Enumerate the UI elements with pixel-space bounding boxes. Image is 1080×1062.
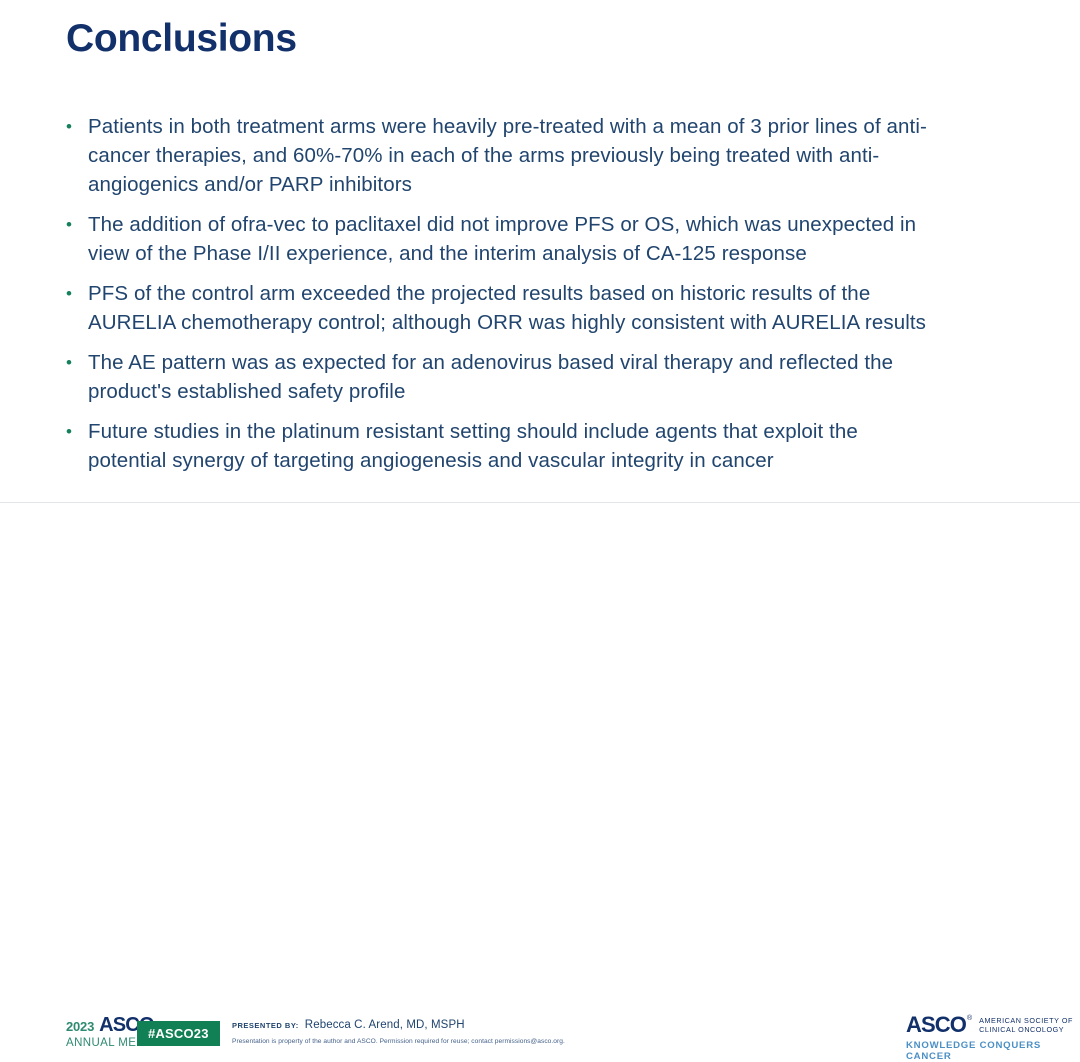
list-item-text: The addition of ofra-vec to paclitaxel d… bbox=[88, 210, 1020, 268]
bullet-line: Patients in both treatment arms were hea… bbox=[88, 112, 1020, 141]
asco-meeting-year: 2023 bbox=[66, 1020, 94, 1033]
asco-society-logo-top: ASCO ® AMERICAN SOCIETY OF CLINICAL ONCO… bbox=[906, 1014, 1080, 1036]
bullet-dot-icon: • bbox=[60, 417, 88, 446]
bullet-dot-icon: • bbox=[60, 112, 88, 141]
bullet-line: cancer therapies, and 60%-70% in each of… bbox=[88, 141, 1020, 170]
bullet-line: The addition of ofra-vec to paclitaxel d… bbox=[88, 210, 1020, 239]
slide-canvas: Conclusions • Patients in both treatment… bbox=[0, 0, 1080, 558]
list-item-text: Future studies in the platinum resistant… bbox=[88, 417, 1020, 475]
asco-society-name-line2: CLINICAL ONCOLOGY bbox=[979, 1025, 1073, 1034]
copyright-disclaimer: Presentation is property of the author a… bbox=[232, 1038, 565, 1046]
list-item: • Future studies in the platinum resista… bbox=[60, 417, 1020, 475]
list-item: • Patients in both treatment arms were h… bbox=[60, 112, 1020, 199]
presenter-line: PRESENTED BY: Rebecca C. Arend, MD, MSPH bbox=[232, 1018, 565, 1032]
asco-society-logo: ASCO ® AMERICAN SOCIETY OF CLINICAL ONCO… bbox=[906, 1014, 1080, 1062]
asco-tagline: KNOWLEDGE CONQUERS CANCER bbox=[906, 1040, 1080, 1062]
bullet-line: Future studies in the platinum resistant… bbox=[88, 417, 1020, 446]
bullet-line: product's established safety profile bbox=[88, 377, 1020, 406]
conclusions-bullet-list: • Patients in both treatment arms were h… bbox=[60, 112, 1020, 486]
asco-society-name: AMERICAN SOCIETY OF CLINICAL ONCOLOGY bbox=[979, 1016, 1073, 1034]
slide-footer: 2023 ASCO ® ANNUAL MEETING #ASCO23 PRESE… bbox=[0, 503, 1080, 558]
bullet-line: The AE pattern was as expected for an ad… bbox=[88, 348, 1020, 377]
list-item-text: The AE pattern was as expected for an ad… bbox=[88, 348, 1020, 406]
bullet-line: PFS of the control arm exceeded the proj… bbox=[88, 279, 1020, 308]
page-title: Conclusions bbox=[66, 18, 297, 61]
bullet-line: angiogenics and/or PARP inhibitors bbox=[88, 170, 1020, 199]
presenter-block: PRESENTED BY: Rebecca C. Arend, MD, MSPH… bbox=[232, 1018, 565, 1047]
list-item: • The AE pattern was as expected for an … bbox=[60, 348, 1020, 406]
asco-society-name-line1: AMERICAN SOCIETY OF bbox=[979, 1016, 1073, 1025]
bullet-line: potential synergy of targeting angiogene… bbox=[88, 446, 1020, 475]
list-item-text: Patients in both treatment arms were hea… bbox=[88, 112, 1020, 199]
bullet-line: AURELIA chemotherapy control; although O… bbox=[88, 308, 1020, 337]
asco-wordmark: ASCO bbox=[906, 1014, 966, 1036]
bullet-line: view of the Phase I/II experience, and t… bbox=[88, 239, 1020, 268]
list-item: • The addition of ofra-vec to paclitaxel… bbox=[60, 210, 1020, 268]
registered-trademark-icon: ® bbox=[967, 1015, 972, 1022]
bullet-dot-icon: • bbox=[60, 279, 88, 308]
presenter-name: Rebecca C. Arend, MD, MSPH bbox=[305, 1018, 465, 1032]
presented-by-label: PRESENTED BY: bbox=[232, 1021, 299, 1030]
hashtag-badge: #ASCO23 bbox=[137, 1021, 220, 1046]
bullet-dot-icon: • bbox=[60, 348, 88, 377]
list-item: • PFS of the control arm exceeded the pr… bbox=[60, 279, 1020, 337]
list-item-text: PFS of the control arm exceeded the proj… bbox=[88, 279, 1020, 337]
bullet-dot-icon: • bbox=[60, 210, 88, 239]
